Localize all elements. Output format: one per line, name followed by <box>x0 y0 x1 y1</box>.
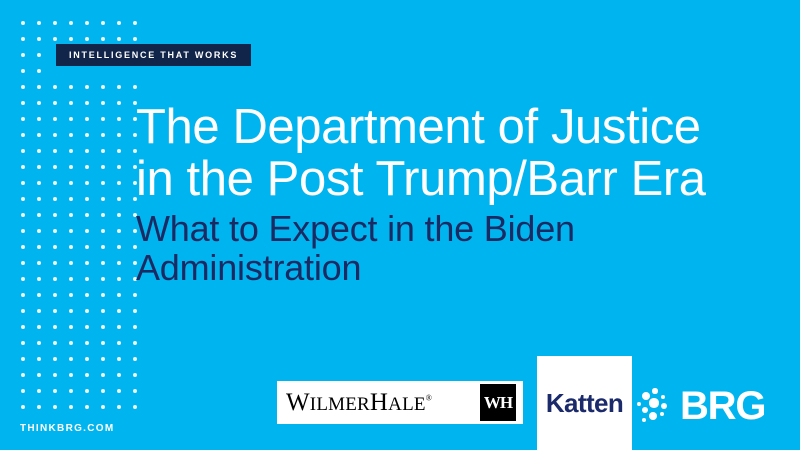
grid-dot <box>37 245 41 249</box>
grid-dot <box>117 261 121 265</box>
grid-dot <box>101 229 105 233</box>
grid-dot <box>37 309 41 313</box>
grid-dot <box>85 21 89 25</box>
grid-dot <box>69 181 73 185</box>
grid-dot <box>101 85 105 89</box>
grid-dot <box>69 37 73 41</box>
tagline-badge: INTELLIGENCE THAT WORKS <box>56 44 251 66</box>
grid-dot <box>69 85 73 89</box>
grid-dot <box>21 277 25 281</box>
grid-dot <box>85 165 89 169</box>
grid-dot <box>37 85 41 89</box>
tagline-badge-label: INTELLIGENCE THAT WORKS <box>69 51 238 60</box>
brg-mark-dot <box>637 402 641 406</box>
grid-dot <box>85 261 89 265</box>
grid-dot <box>69 309 73 313</box>
grid-dot <box>117 149 121 153</box>
grid-dot <box>117 21 121 25</box>
grid-dot <box>117 245 121 249</box>
grid-dot <box>53 37 57 41</box>
subtitle-line-2: Administration <box>136 248 736 287</box>
grid-dot <box>133 37 137 41</box>
brg-mark-dot <box>642 407 648 413</box>
grid-dot <box>21 101 25 105</box>
grid-dot <box>37 117 41 121</box>
grid-dot <box>37 229 41 233</box>
grid-dot <box>133 21 137 25</box>
grid-dot <box>21 261 25 265</box>
grid-dot <box>37 133 41 137</box>
grid-dot <box>21 309 25 313</box>
grid-dot <box>53 181 57 185</box>
grid-dot <box>21 117 25 121</box>
grid-dot <box>69 197 73 201</box>
grid-dot <box>53 229 57 233</box>
grid-dot <box>85 325 89 329</box>
title-line-2: in the Post Trump/Barr Era <box>136 153 776 205</box>
grid-dot <box>69 277 73 281</box>
grid-dot <box>69 261 73 265</box>
grid-dot <box>53 277 57 281</box>
wilmerhale-monogram-text: WH <box>484 394 512 411</box>
grid-dot <box>101 181 105 185</box>
wilmerhale-logo: WILMERHALE® WH <box>277 381 523 424</box>
grid-dot <box>69 21 73 25</box>
grid-dot <box>85 229 89 233</box>
grid-dot <box>133 309 137 313</box>
grid-dot <box>69 149 73 153</box>
grid-dot <box>37 213 41 217</box>
brg-mark-dot <box>649 412 657 420</box>
grid-dot <box>21 85 25 89</box>
grid-dot <box>117 325 121 329</box>
brg-mark-dot <box>660 412 665 417</box>
grid-dot <box>21 37 25 41</box>
brg-diamond-dots-icon <box>636 387 674 425</box>
grid-dot <box>101 213 105 217</box>
grid-dot <box>21 133 25 137</box>
grid-dot <box>53 197 57 201</box>
grid-dot <box>37 101 41 105</box>
grid-dot <box>37 197 41 201</box>
grid-dot <box>21 21 25 25</box>
grid-dot <box>37 149 41 153</box>
grid-dot <box>101 245 105 249</box>
grid-dot <box>37 165 41 169</box>
grid-dot <box>53 101 57 105</box>
grid-dot <box>21 181 25 185</box>
grid-dot <box>69 133 73 137</box>
brg-logo: BRG <box>636 383 786 429</box>
subtitle-line-1: What to Expect in the Biden <box>136 209 736 248</box>
grid-dot <box>53 149 57 153</box>
grid-dot <box>117 213 121 217</box>
grid-dot <box>37 293 41 297</box>
grid-dot <box>53 21 57 25</box>
grid-dot <box>101 165 105 169</box>
brg-mark-dot <box>661 395 665 399</box>
katten-logo: Katten <box>537 356 632 450</box>
grid-dot <box>85 277 89 281</box>
grid-dot <box>21 245 25 249</box>
grid-dot <box>101 37 105 41</box>
grid-dot <box>117 293 121 297</box>
page-subtitle: What to Expect in the Biden Administrati… <box>136 209 736 287</box>
grid-dot <box>133 325 137 329</box>
grid-dot <box>117 101 121 105</box>
grid-dot <box>133 85 137 89</box>
grid-dot <box>21 69 25 73</box>
grid-dot <box>133 293 137 297</box>
grid-dot <box>85 85 89 89</box>
grid-dot <box>101 277 105 281</box>
wilmerhale-monogram-mark: WH <box>479 383 517 422</box>
wilmerhale-h-cap: H <box>370 389 388 416</box>
grid-dot <box>53 261 57 265</box>
grid-dot <box>69 117 73 121</box>
title-line-1: The Department of Justice <box>136 101 776 153</box>
grid-dot <box>21 325 25 329</box>
grid-dot <box>53 213 57 217</box>
katten-wordmark: Katten <box>546 390 623 416</box>
grid-dot <box>101 309 105 313</box>
grid-dot <box>101 21 105 25</box>
grid-dot <box>85 197 89 201</box>
brg-mark-dot <box>652 388 657 393</box>
grid-dot <box>53 309 57 313</box>
grid-dot <box>101 149 105 153</box>
grid-dot <box>37 325 41 329</box>
registered-trademark-icon: ® <box>426 394 432 403</box>
grid-dot <box>21 149 25 153</box>
grid-dot <box>53 293 57 297</box>
grid-dot <box>37 69 41 73</box>
grid-dot <box>21 165 25 169</box>
grid-dot <box>21 197 25 201</box>
grid-dot <box>53 245 57 249</box>
grid-dot <box>53 325 57 329</box>
grid-dot <box>69 325 73 329</box>
grid-dot <box>101 133 105 137</box>
grid-dot <box>21 213 25 217</box>
grid-dot <box>37 37 41 41</box>
grid-dot <box>37 21 41 25</box>
grid-dot <box>85 133 89 137</box>
grid-dot <box>69 245 73 249</box>
grid-dot <box>101 117 105 121</box>
grid-dot <box>117 309 121 313</box>
grid-dot <box>85 37 89 41</box>
brg-mark-dot <box>642 418 646 422</box>
grid-dot <box>21 229 25 233</box>
grid-dot <box>37 181 41 185</box>
wilmerhale-w-cap: W <box>286 389 310 416</box>
grid-dot <box>117 181 121 185</box>
grid-dot <box>85 293 89 297</box>
grid-dot <box>69 101 73 105</box>
grid-dot <box>117 165 121 169</box>
grid-dot <box>21 293 25 297</box>
grid-dot <box>85 117 89 121</box>
brg-mark-dot <box>649 398 658 407</box>
logo-strip: WILMERHALE® WH Katten BRG <box>0 340 800 450</box>
grid-dot <box>53 85 57 89</box>
grid-dot <box>85 213 89 217</box>
grid-dot <box>101 101 105 105</box>
grid-dot <box>69 293 73 297</box>
grid-dot <box>85 309 89 313</box>
grid-dot <box>85 101 89 105</box>
grid-dot <box>21 53 25 57</box>
grid-dot <box>53 165 57 169</box>
grid-dot <box>101 261 105 265</box>
grid-dot <box>101 325 105 329</box>
brg-wordmark: BRG <box>680 386 765 426</box>
grid-dot <box>53 117 57 121</box>
grid-dot <box>117 229 121 233</box>
grid-dot <box>117 85 121 89</box>
wilmerhale-ale: ALE <box>388 394 426 415</box>
wilmerhale-wordmark: WILMERHALE® <box>286 390 432 415</box>
wilmerhale-ilmer: ILMER <box>310 394 370 415</box>
grid-dot <box>37 53 41 57</box>
grid-dot <box>117 197 121 201</box>
grid-dot <box>37 277 41 281</box>
grid-dot <box>101 197 105 201</box>
grid-dot <box>37 261 41 265</box>
grid-dot <box>85 181 89 185</box>
presentation-title-slide: INTELLIGENCE THAT WORKS The Department o… <box>0 0 800 450</box>
grid-dot <box>53 133 57 137</box>
grid-dot <box>117 133 121 137</box>
grid-dot <box>101 293 105 297</box>
brg-mark-dot <box>661 403 667 409</box>
grid-dot <box>69 165 73 169</box>
grid-dot <box>117 277 121 281</box>
grid-dot <box>69 229 73 233</box>
grid-dot <box>85 149 89 153</box>
grid-dot <box>117 117 121 121</box>
grid-dot <box>69 213 73 217</box>
grid-dot <box>85 245 89 249</box>
page-title: The Department of Justice in the Post Tr… <box>136 101 776 205</box>
grid-dot <box>117 37 121 41</box>
